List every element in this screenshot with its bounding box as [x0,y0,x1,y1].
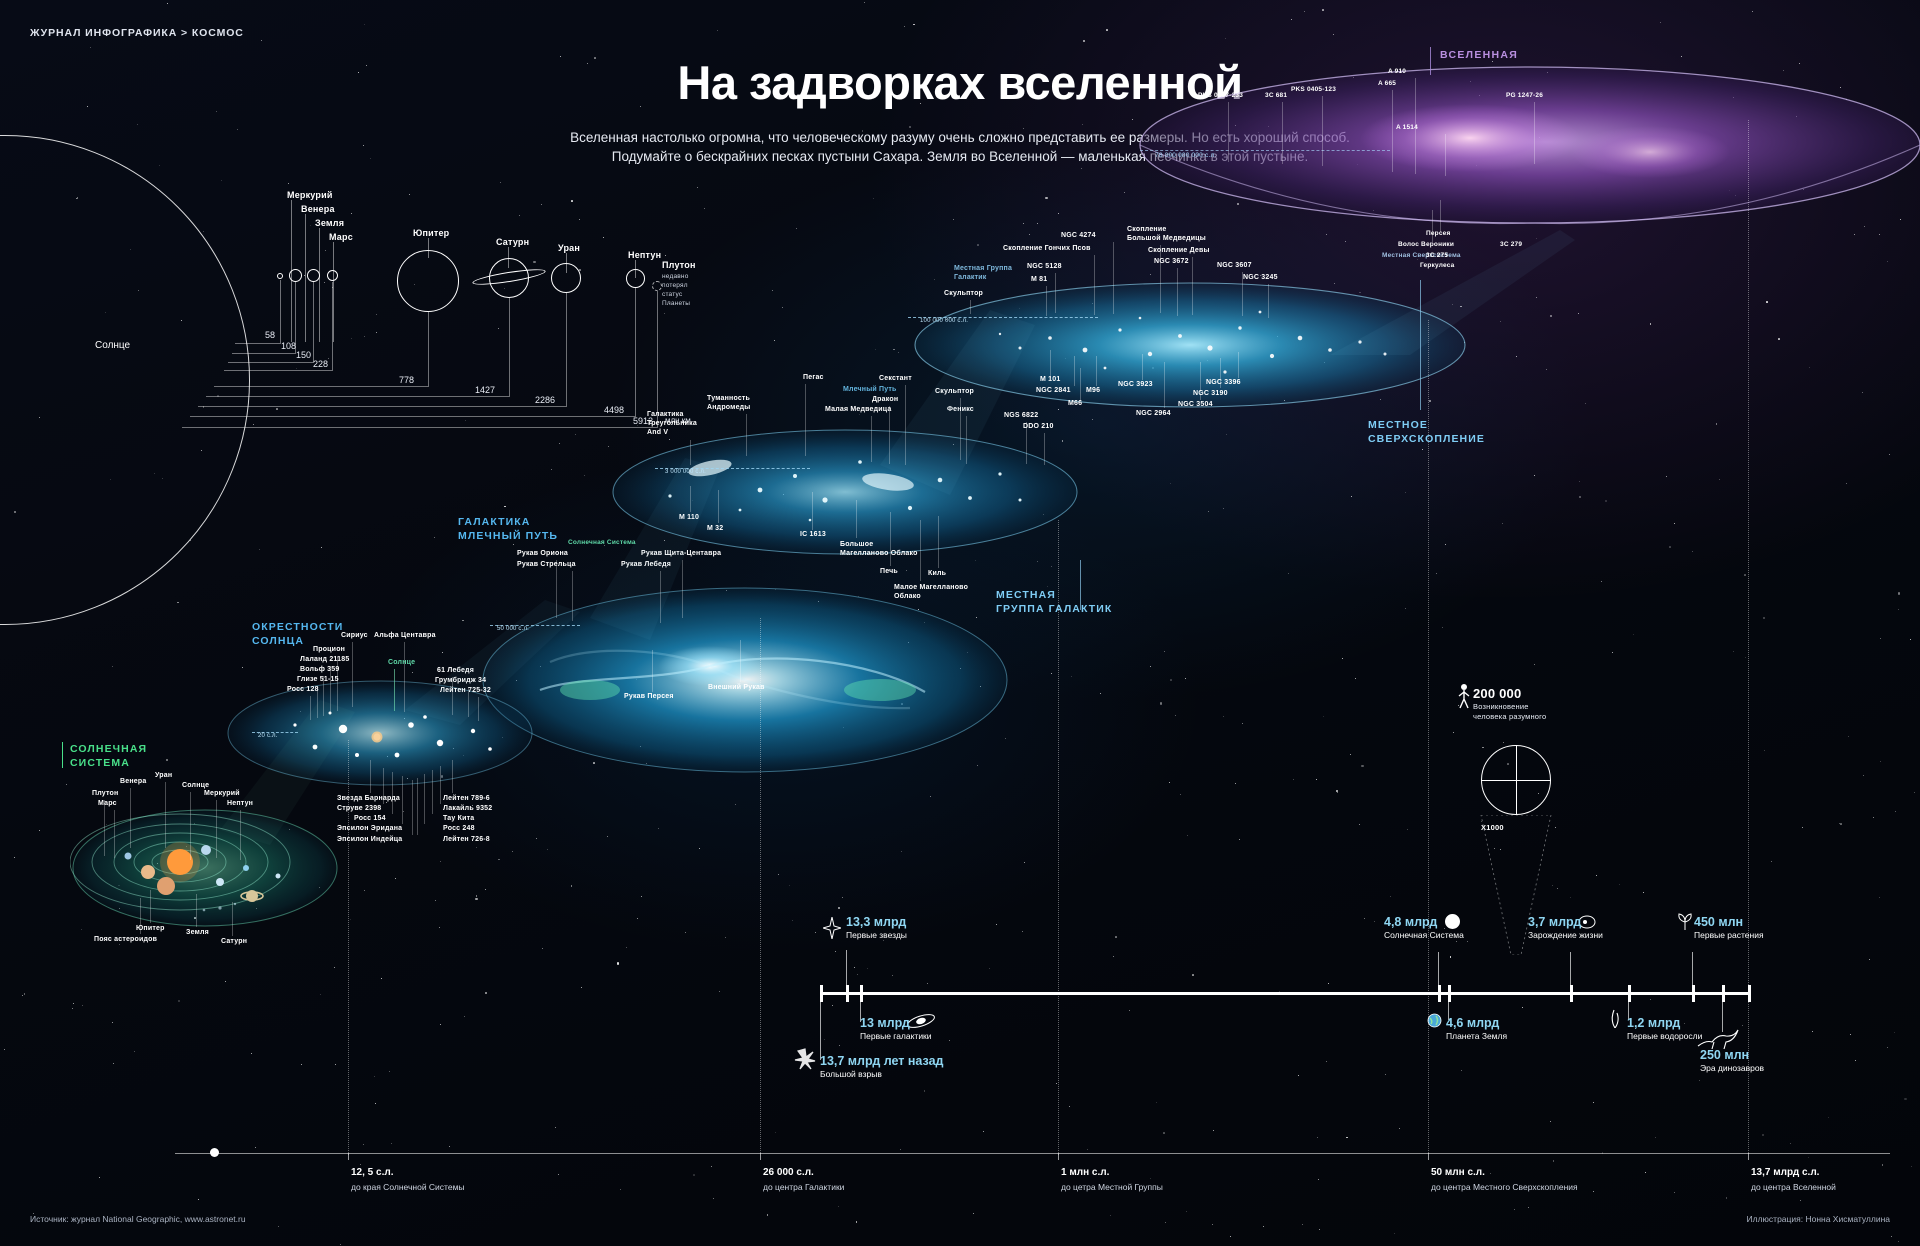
leader-ss-mars [114,810,115,858]
planet-glyph-neptune [626,269,645,288]
leader-lg-lmc [856,500,857,538]
leader-ss-uranus [165,782,166,848]
timeline-value-galaxies: 13 млрд [860,1016,910,1030]
base-value-4: 13,7 млрд с.л. [1751,1167,1819,1178]
leader-nb-epseri [402,776,403,824]
sun-icon [1445,914,1460,929]
dim-line-saturn [206,396,510,397]
ss-label-uranus: Уран [155,772,172,779]
nb-star-ross248: Росс 248 [443,825,475,832]
timeline-value-dino: 250 млн [1700,1048,1749,1062]
base-value-0: 12, 5 с.л. [351,1167,394,1178]
base-tick-0 [348,1153,349,1160]
caption-milky-way: ГАЛАКТИКА МЛЕЧНЫЙ ПУТЬ [458,515,558,543]
sc-label-canes: Скопление Гончих Псов [1003,245,1091,252]
leader-quasar-1 [1282,102,1283,164]
timeline-caption-algae: Первые водоросли [1627,1031,1702,1041]
planet-glyph-mars [327,270,338,281]
dim-stem-mercury [280,280,281,343]
leader-ss-asteroid-belt [140,898,141,934]
leader-quasar-2 [1322,96,1323,166]
timeline-caption-life: Зарождение жизни [1528,930,1603,940]
timeline-axis [820,992,1750,995]
timeline-value-bigbang: 13,7 млрд лет назад [820,1054,943,1068]
human-scale-value: 200 000 [1473,686,1521,701]
planet-glyph-mercury [277,273,283,279]
leader-nb-tauceti [432,770,433,814]
leader-nb-epsind [412,780,413,835]
leader-nb-luyten789 [452,760,453,793]
timeline-value-life: 3,7 млрд [1528,915,1581,929]
sun-label: Солнце [95,340,130,351]
universe-scale-label: 78 000 000 000 с.л. [1155,152,1216,159]
breadcrumb: ЖУРНАЛ ИНФОГРАФИКА > КОСМОС [30,27,244,39]
sc-low-ngc3190: NGC 3190 [1193,390,1228,397]
mw-arm-perseus: Рукав Персея [624,693,674,700]
timeline-stem-dino [1722,992,1723,1032]
galaxy-icon [906,1013,936,1029]
base-caption-2: до цетра Местной Группы [1061,1182,1163,1192]
ss-label-asteroid-belt: Пояс астероидов [94,936,157,943]
nb-star-luyten726: Лейтен 726-8 [443,836,490,843]
quasar-label-1: 3C 681 [1265,92,1287,99]
mw-arm-outer: Внешний Рукав [708,684,765,691]
timeline-stem-bigbang [820,992,821,1060]
explosion-icon [794,1048,816,1070]
plant-icon [1675,910,1695,930]
ss-label-venus: Венера [120,778,146,785]
sc-low-ngc3504: NGC 3504 [1178,401,1213,408]
quasar-label-2: PKS 0405-123 [1291,86,1336,93]
nb-star-ross128: Росс 128 [287,686,319,693]
brace-solar-system [62,742,63,768]
base-value-1: 26 000 с.л. [763,1167,814,1178]
timeline-caption-stars: Первые звезды [846,930,907,940]
base-axis [175,1153,1890,1154]
planet-glyph-earth [307,269,320,282]
planet-glyph-pluto [652,281,662,291]
base-tick-1 [760,1153,761,1160]
dim-line-venus [232,353,296,354]
sc-label-local-group: Местная Группа Галактик [954,264,1012,282]
dim-line-pluto [182,427,658,428]
leader-ss-venus [130,788,131,848]
dim-value-saturn: 1427 [475,385,495,395]
planet-label-uranus: Уран [558,243,580,253]
leader-sc-ngc2964 [1164,362,1165,408]
quasar-label-6: PG 1247-26 [1506,92,1543,99]
dim-line-mars [224,370,333,371]
timeline-caption-galaxies: Первые галактики [860,1031,932,1041]
base-tick-2 [1058,1153,1059,1160]
nb-star-tauceti: Тау Кита [443,815,474,822]
universe-scale-line [1140,150,1390,151]
dim-stem-earth [313,282,314,362]
lg-label-pegasus: Пегас [803,374,824,381]
divider-universe [1748,120,1749,1153]
divider-supercluster [1428,320,1429,1153]
dim-line-jupiter [214,386,429,387]
nb-star-lalande: Лаланд 21185 [300,656,349,663]
leader-quasar-6 [1534,102,1535,164]
brace-universe [1430,47,1431,75]
earth-icon [1427,1013,1442,1028]
planet-glyph-jupiter [397,250,459,312]
quasar-label-4: A 910 [1388,68,1406,75]
ss-label-mars: Марс [98,800,117,807]
mw-arm-orion: Рукав Ориона [517,550,568,557]
base-caption-1: до центра Галактики [763,1182,844,1192]
algae-icon [1606,1008,1624,1028]
ss-label-pluto: Плутон [92,790,118,797]
base-axis-origin-dot [210,1148,219,1157]
leader-ss-pluto [104,800,105,856]
sc-label-ngc5128: NGC 5128 [1027,263,1062,270]
dim-stem-saturn [509,298,510,396]
dim-value-mars: 228 [313,359,328,369]
caption-sun-neighborhood: ОКРЕСТНОСТИ СОЛНЦА [252,620,343,648]
leader-earth [319,228,320,342]
timeline-stem-stars [846,950,847,992]
base-caption-3: до центра Местного Сверхскопления [1431,1182,1578,1192]
planet-label-jupiter: Юпитер [413,228,449,238]
timeline-value-plants: 450 млн [1694,915,1743,929]
dim-value-mercury: 58 [265,330,275,340]
timeline-caption-dino: Эра динозавров [1700,1063,1764,1073]
cone-supercluster-universe [1160,230,1580,360]
timeline-value-solar: 4,8 млрд [1384,915,1437,929]
planet-label-earth: Земля [315,218,344,228]
timeline-caption-plants: Первые растения [1694,930,1764,940]
leader-ss-jupiter [150,890,151,923]
leader-nb-lacaille [440,766,441,804]
human-figure-icon [1455,683,1473,709]
timeline-caption-solar: Солнечная Система [1384,930,1464,940]
planet-label-neptune: Нептун [628,250,661,260]
base-tick-3 [1428,1153,1429,1160]
leader-quasar-0 [1228,102,1229,162]
ss-label-saturn: Сатурн [221,938,247,945]
footer-source: Источник: журнал National Geographic, ww… [30,1214,246,1224]
sc-label-ngc4274: NGC 4274 [1061,232,1096,239]
cone-milkyway-localgroup [590,450,840,650]
leader-quasar-5 [1445,134,1446,176]
leader-cluster-perseus [1440,200,1441,232]
nb-star-wolf: Вольф 359 [300,666,339,673]
lg-label-andromeda: Туманность Андромеды [707,394,750,412]
timeline-value-algae: 1,2 млрд [1627,1016,1680,1030]
quasar-label-3: A 665 [1378,80,1396,87]
base-value-3: 50 млн с.л. [1431,1167,1485,1178]
dim-value-earth: 150 [296,350,311,360]
sc-label-m81: M 81 [1031,276,1047,283]
dim-value-uranus: 2286 [535,395,555,405]
sc-low-ngc3396: NGC 3396 [1206,379,1241,386]
timeline-caption-earth: Планета Земля [1446,1031,1507,1041]
caption-solar-system: СОЛНЕЧНАЯ СИСТЕМА [70,742,147,770]
timeline-stem-solar [1438,952,1439,992]
dim-stem-neptune [635,288,636,416]
divider-solar-system [348,740,349,1155]
leader-venus [305,214,306,342]
sun-arc [0,135,250,625]
timeline-stem-plants [1692,952,1693,992]
caption-universe: ВСЕЛЕННАЯ [1440,48,1518,62]
quasar-label-5: A 1514 [1396,124,1418,131]
dim-line-neptune [190,416,636,417]
planet-label-pluto: Плутон [662,260,696,270]
planet-label-venus: Венера [301,204,335,214]
planet-glyph-uranus [551,263,581,293]
dim-stem-mars [332,282,333,370]
leader-nb-luyten726 [417,778,418,835]
lg-label-triangulum: Галактика Треугольника And V [647,410,697,437]
quasar-label-0: PKS 0237-233 [1198,92,1243,99]
mw-arm-sagittarius: Рукав Стрельца [517,561,576,568]
planet-glyph-venus [289,269,302,282]
base-value-2: 1 млн с.л. [1061,1167,1109,1178]
human-scale-caption: Возникновение человека разумного [1473,702,1546,722]
base-tick-4 [1748,1153,1749,1160]
dim-line-uranus [198,406,567,407]
dim-stem-jupiter [428,312,429,386]
timeline-value-earth: 4,6 млрд [1446,1016,1499,1030]
timeline-value-stars: 13,3 млрд [846,915,906,929]
leader-ss-saturn [232,902,233,936]
pluto-note: недавнопотерялстатусПланеты [662,272,690,308]
sc-low-ngc2964: NGC 2964 [1136,410,1171,417]
footer-credit: Иллюстрация: Нонна Хисматуллина [1747,1214,1890,1224]
planet-label-saturn: Сатурн [496,237,529,247]
dinosaur-icon [1696,1028,1740,1050]
divider-galaxy [760,618,761,1153]
dim-line-earth [228,362,314,363]
dim-value-venus: 108 [281,341,296,351]
dim-value-jupiter: 778 [399,375,414,385]
brace-local-group [1080,560,1081,610]
leader-mw-perseus [652,650,653,692]
nb-star-procyon: Процион [313,646,345,653]
nb-star-gliese: Глизе 51-15 [297,676,339,683]
leader-lg-ursaminor [871,416,872,462]
leader-ss-earth [196,894,197,927]
sc-label-sculptor: Скульптор [944,290,983,297]
divider-local-group [1058,520,1059,1155]
caption-supercluster: МЕСТНОЕ СВЕРХСКОПЛЕНИЕ [1368,418,1485,446]
nb-star-lacaille: Лакайль 9352 [443,805,492,812]
dim-line-mercury [235,343,281,344]
leader-ss-sun [190,792,191,860]
leader-quasar-3 [1392,90,1393,172]
leader-mars [333,242,334,342]
dim-stem-uranus [566,293,567,406]
base-caption-4: до центра Вселенной [1751,1182,1836,1192]
timeline-stem-life [1570,952,1571,992]
leader-lg-pegasus [805,384,806,456]
leader-sc-ngc3923 [1142,354,1143,380]
timeline-caption-bigbang: Большой взрыв [820,1069,882,1079]
base-caption-0: до края Солнечной Системы [351,1182,465,1192]
magnifier-vline [1516,745,1517,815]
planet-label-mars: Марс [329,232,353,242]
star-icon [823,917,841,939]
cone-localgroup-supercluster [880,300,1140,500]
planet-label-mercury: Меркурий [287,190,333,200]
ss-label-earth: Земля [186,929,209,936]
leader-nb-ross248 [424,774,425,824]
nb-star-luyten789: Лейтен 789-6 [443,795,490,802]
cone-solarsystem-neighborhood [200,700,400,850]
